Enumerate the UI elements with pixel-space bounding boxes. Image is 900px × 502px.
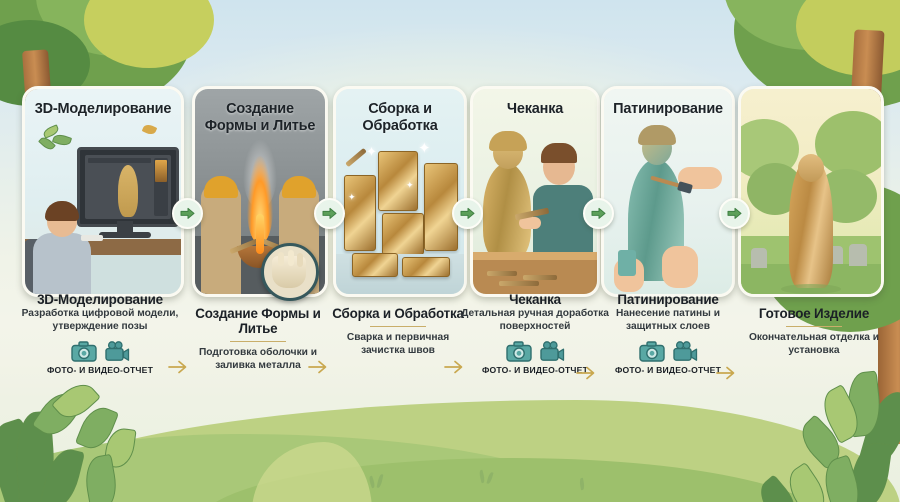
card-3-title: Сборка и Обработка xyxy=(336,101,464,134)
camera-photo-icon xyxy=(506,341,532,362)
caption-1-report: ФОТО- И ВИДЕО-ОТЧЕТ xyxy=(10,341,190,375)
camera-video-icon xyxy=(539,341,565,362)
chevron-right-icon xyxy=(574,364,598,382)
caption-arrow-1-to-2 xyxy=(166,358,190,376)
process-card-5[interactable]: Патинирование xyxy=(601,86,735,297)
card-5-title: Патинирование xyxy=(604,101,732,118)
caption-3-rule xyxy=(370,326,426,327)
process-card-1[interactable]: 3D-Моделирование xyxy=(22,86,184,297)
step-arrow-3-to-4[interactable] xyxy=(452,198,483,229)
caption-block-1: 3D-Моделирование Разработка цифровой мод… xyxy=(10,292,190,375)
caption-6-rule xyxy=(786,326,842,327)
captions-row: 3D-Моделирование Разработка цифровой мод… xyxy=(0,292,900,412)
camera-video-icon xyxy=(672,341,698,362)
chevron-right-icon xyxy=(714,364,738,382)
caption-arrow-2-to-3 xyxy=(306,358,330,376)
camera-photo-icon xyxy=(71,341,97,362)
caption-1-desc: Разработка цифровой модели, утверждение … xyxy=(10,307,190,334)
camera-video-icon xyxy=(104,341,130,362)
card-5-illustration xyxy=(604,89,732,294)
caption-4-desc: Детальная ручная доработка поверхностей xyxy=(455,307,615,334)
arrow-right-circle-icon xyxy=(180,207,195,220)
caption-6-desc: Окончательная отделка и установка xyxy=(738,331,890,358)
caption-2-title: Создание Формы и Литье xyxy=(184,306,332,336)
step-arrow-1-to-2[interactable] xyxy=(172,198,203,229)
caption-4-title: Чеканка xyxy=(455,292,615,307)
caption-1-title: 3D-Моделирование xyxy=(10,292,190,307)
arrow-right-circle-icon xyxy=(727,207,742,220)
caption-arrow-3-to-4 xyxy=(442,358,466,376)
caption-3-desc: Сварка и первичная зачистка швов xyxy=(328,331,468,358)
caption-6-title: Готовое Изделие xyxy=(738,306,890,321)
caption-block-6: Готовое Изделие Окончательная отделка и … xyxy=(738,306,890,358)
step-arrow-5-to-6[interactable] xyxy=(719,198,750,229)
monitor-icon xyxy=(77,147,179,227)
process-card-4[interactable]: Чеканка xyxy=(470,86,600,297)
caption-3-title: Сборка и Обработка xyxy=(328,306,468,321)
caption-5-desc: Нанесение патины и защитных слоев xyxy=(592,307,744,334)
card-2-title: Создание Формы и Литье xyxy=(195,101,325,134)
card-6-illustration xyxy=(741,89,881,294)
process-card-6[interactable] xyxy=(738,86,884,297)
caption-1-report-label: ФОТО- И ВИДЕО-ОТЧЕТ xyxy=(10,365,190,375)
arrow-right-circle-icon xyxy=(460,207,475,220)
card-1-title: 3D-Моделирование xyxy=(25,101,181,118)
infographic-root: 3D-Моделирование Создание Формы и Литье xyxy=(0,0,900,502)
arrow-right-circle-icon xyxy=(591,207,606,220)
step-arrow-2-to-3[interactable] xyxy=(314,198,345,229)
arrow-right-circle-icon xyxy=(322,207,337,220)
process-card-3[interactable]: ✦ ✦ ✦ ✦ Сборка и Обработка xyxy=(333,86,467,297)
caption-block-3: Сборка и Обработка Сварка и первичная за… xyxy=(328,306,468,358)
mold-shell-medallion xyxy=(261,243,319,301)
caption-2-rule xyxy=(230,341,286,342)
card-4-title: Чеканка xyxy=(473,101,597,118)
chevron-right-icon xyxy=(442,358,466,376)
foundry-worker-left-icon xyxy=(201,184,241,294)
caption-block-5: Патинирование Нанесение патины и защитны… xyxy=(592,292,744,375)
caption-block-4: Чеканка Детальная ручная доработка повер… xyxy=(455,292,615,375)
camera-photo-icon xyxy=(639,341,665,362)
card-1-illustration xyxy=(25,89,181,294)
chevron-right-icon xyxy=(166,358,190,376)
card-4-illustration xyxy=(473,89,597,294)
process-cards-row: 3D-Моделирование Создание Формы и Литье xyxy=(0,0,900,300)
grass-tufts xyxy=(360,466,660,496)
caption-arrow-4-to-5 xyxy=(574,364,598,382)
step-arrow-4-to-5[interactable] xyxy=(583,198,614,229)
chevron-right-icon xyxy=(306,358,330,376)
caption-arrow-5-to-6 xyxy=(714,364,738,382)
caption-5-title: Патинирование xyxy=(592,292,744,307)
